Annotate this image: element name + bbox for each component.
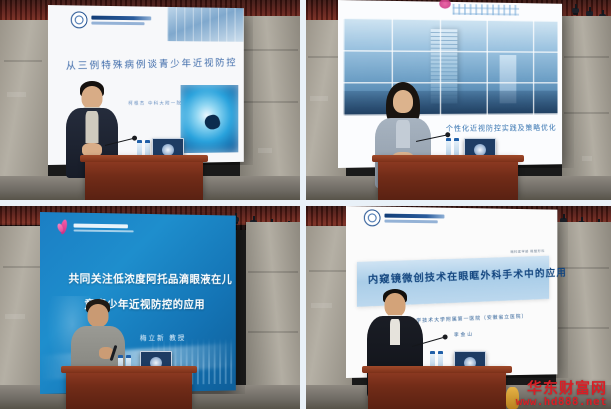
podium: [66, 371, 192, 409]
water-bottle: [454, 138, 459, 156]
left-wall: [0, 226, 45, 409]
slide-title: 个性化近视防控实践及策略优化: [446, 123, 557, 135]
hospital-seal-icon: [364, 210, 381, 227]
hospital-seal-icon: [70, 12, 87, 29]
slide-presenter: 李金山: [454, 330, 474, 338]
podium: [378, 160, 518, 200]
slide-logo-text: [453, 4, 519, 16]
photo-top-left: 从三例特殊病例谈青少年近视防控 柯根杰 中科大附一院眼科: [0, 0, 300, 200]
slide-header-image: [167, 7, 243, 42]
photo-collage: 从三例特殊病例谈青少年近视防控 柯根杰 中科大附一院眼科: [0, 0, 611, 409]
left-wall: [306, 226, 352, 409]
photo-bottom-left: 共同关注低浓度阿托品滴眼液在儿 童青少年近视防控的应用 梅立新 教授: [0, 206, 300, 409]
right-wall: [246, 222, 300, 409]
slide-logo: [58, 220, 134, 236]
watermark-url: www.hd888.net: [516, 396, 607, 407]
watermark: 华东财富网 www.hd888.net: [516, 381, 607, 407]
slide-presenter: 梅立新 教授: [140, 333, 186, 343]
podium: [85, 160, 203, 200]
slide-title: 从三例特殊病例谈青少年近视防控: [66, 54, 229, 72]
left-wall: [0, 20, 48, 200]
slide-logo: [70, 12, 150, 30]
auditorium-scene: 从三例特殊病例谈青少年近视防控 柯根杰 中科大附一院眼科: [0, 0, 300, 200]
slide-logo: [364, 210, 445, 228]
slide-title-line1: 共同关注低浓度阿托品滴眼液在儿: [68, 270, 232, 286]
auditorium-scene: 共同关注低浓度阿托品滴眼液在儿 童青少年近视防控的应用 梅立新 教授: [0, 206, 300, 409]
auditorium-scene: 个性化近视防控实践及策略优化: [306, 0, 611, 200]
hospital-tower: [431, 29, 457, 104]
podium: [368, 371, 506, 409]
slide-corner-note: 眼科医学部 眼整形科: [511, 248, 546, 254]
photo-grid: 从三例特殊病例谈青少年近视防控 柯根杰 中科大附一院眼科: [0, 0, 611, 409]
pink-ribbon-logo-icon: [439, 0, 450, 8]
watermark-brand: 华东财富网: [516, 381, 607, 396]
secondary-tower: [499, 55, 516, 104]
womens-hospital-logo-icon: [58, 220, 70, 235]
eye-iris-image: [181, 85, 238, 153]
photo-top-right: 个性化近视防控实践及策略优化: [306, 0, 611, 200]
water-bottle: [446, 138, 451, 156]
